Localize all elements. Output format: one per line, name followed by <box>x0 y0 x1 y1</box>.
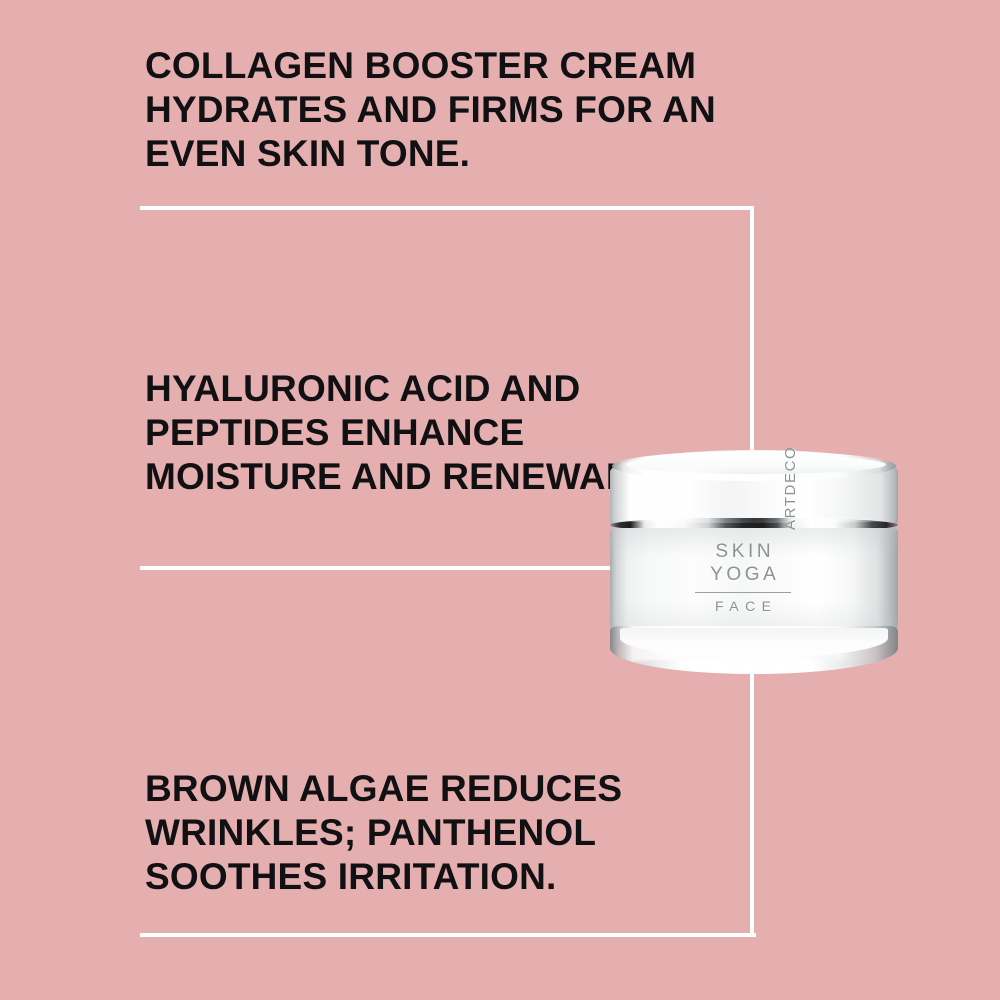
jar-base-foot <box>610 658 898 674</box>
divider-rule-vertical-lower <box>750 668 754 937</box>
benefit-text-collagen-booster: COLLAGEN BOOSTER CREAM HYDRATES AND FIRM… <box>145 44 785 176</box>
jar-acrylic-base <box>610 626 898 674</box>
product-benefits-graphic: COLLAGEN BOOSTER CREAM HYDRATES AND FIRM… <box>0 0 1000 1000</box>
benefit-text-hyaluronic-peptides: HYALURONIC ACID AND PEPTIDES ENHANCE MOI… <box>145 367 665 499</box>
jar-label-line-skin: SKIN <box>688 540 798 563</box>
jar-label-line-yoga: YOGA <box>688 563 798 586</box>
jar-label-line-face: FACE <box>688 598 798 614</box>
jar-label-divider <box>695 592 791 593</box>
divider-rule-bottom <box>140 933 756 937</box>
benefit-text-algae-panthenol: BROWN ALGAE REDUCES WRINKLES; PANTHENOL … <box>145 767 705 899</box>
divider-rule-top <box>140 206 754 210</box>
divider-rule-middle <box>140 566 612 570</box>
product-jar-image: SKIN YOGA FACE ARTDECO <box>610 450 898 674</box>
jar-base-inner <box>620 628 888 658</box>
divider-rule-vertical-upper <box>750 206 754 456</box>
jar-chrome-gloss <box>610 518 898 523</box>
jar-brand-artdeco: ARTDECO <box>780 434 802 530</box>
jar-label: SKIN YOGA FACE <box>688 540 798 614</box>
jar-lid-highlight <box>640 468 736 522</box>
jar-lid <box>610 450 898 526</box>
